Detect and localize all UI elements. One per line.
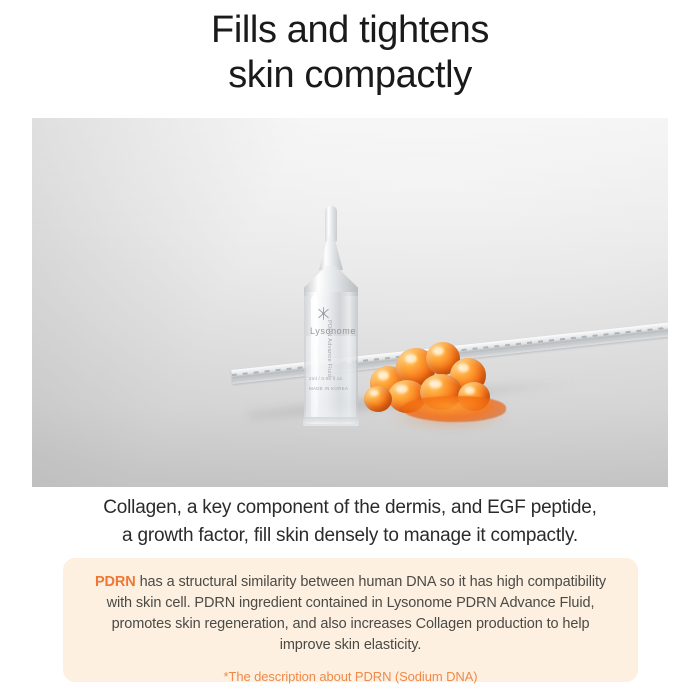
ampoule-neck [319,236,343,270]
pdrn-callout-box: PDRN has a structural similarity between… [63,558,638,682]
headline-line-2: skin compactly [0,53,700,98]
ampoule-base [303,417,359,426]
gel-bead-spill [402,396,506,422]
body-copy-line-1: Collagen, a key component of the dermis,… [0,494,700,522]
ampoule-product-subtitle: PDRN Advance Fluid [326,320,332,377]
ampoule-origin: MADE IN KOREA [309,386,348,391]
ampoule-volume: 2ml / 0.06 fl.oz. [309,376,344,381]
gel-bead-cluster [362,336,510,424]
pdrn-description: PDRN has a structural similarity between… [89,572,612,656]
body-copy: Collagen, a key component of the dermis,… [0,494,700,550]
ampoule-brand-name: Lysonome [310,326,356,336]
pdrn-footnote: *The description about PDRN (Sodium DNA) [89,669,612,684]
headline-line-1: Fills and tightens [0,8,700,53]
gel-bead [364,386,392,412]
pdrn-description-text: has a structural similarity between huma… [107,574,606,653]
ampoule-bottle: Lysonome PDRN Advance Fluid 2ml / 0.06 f… [294,206,368,426]
ampoule-label: Lysonome PDRN Advance Fluid 2ml / 0.06 f… [306,302,356,416]
product-photo: Lysonome PDRN Advance Fluid 2ml / 0.06 f… [32,118,668,487]
body-copy-line-2: a growth factor, fill skin densely to ma… [0,522,700,550]
pdrn-accent-word: PDRN [95,574,136,590]
starburst-logo-icon [316,306,331,321]
product-detail-page: Fills and tightens skin compactly [0,0,700,700]
page-title: Fills and tightens skin compactly [0,8,700,98]
